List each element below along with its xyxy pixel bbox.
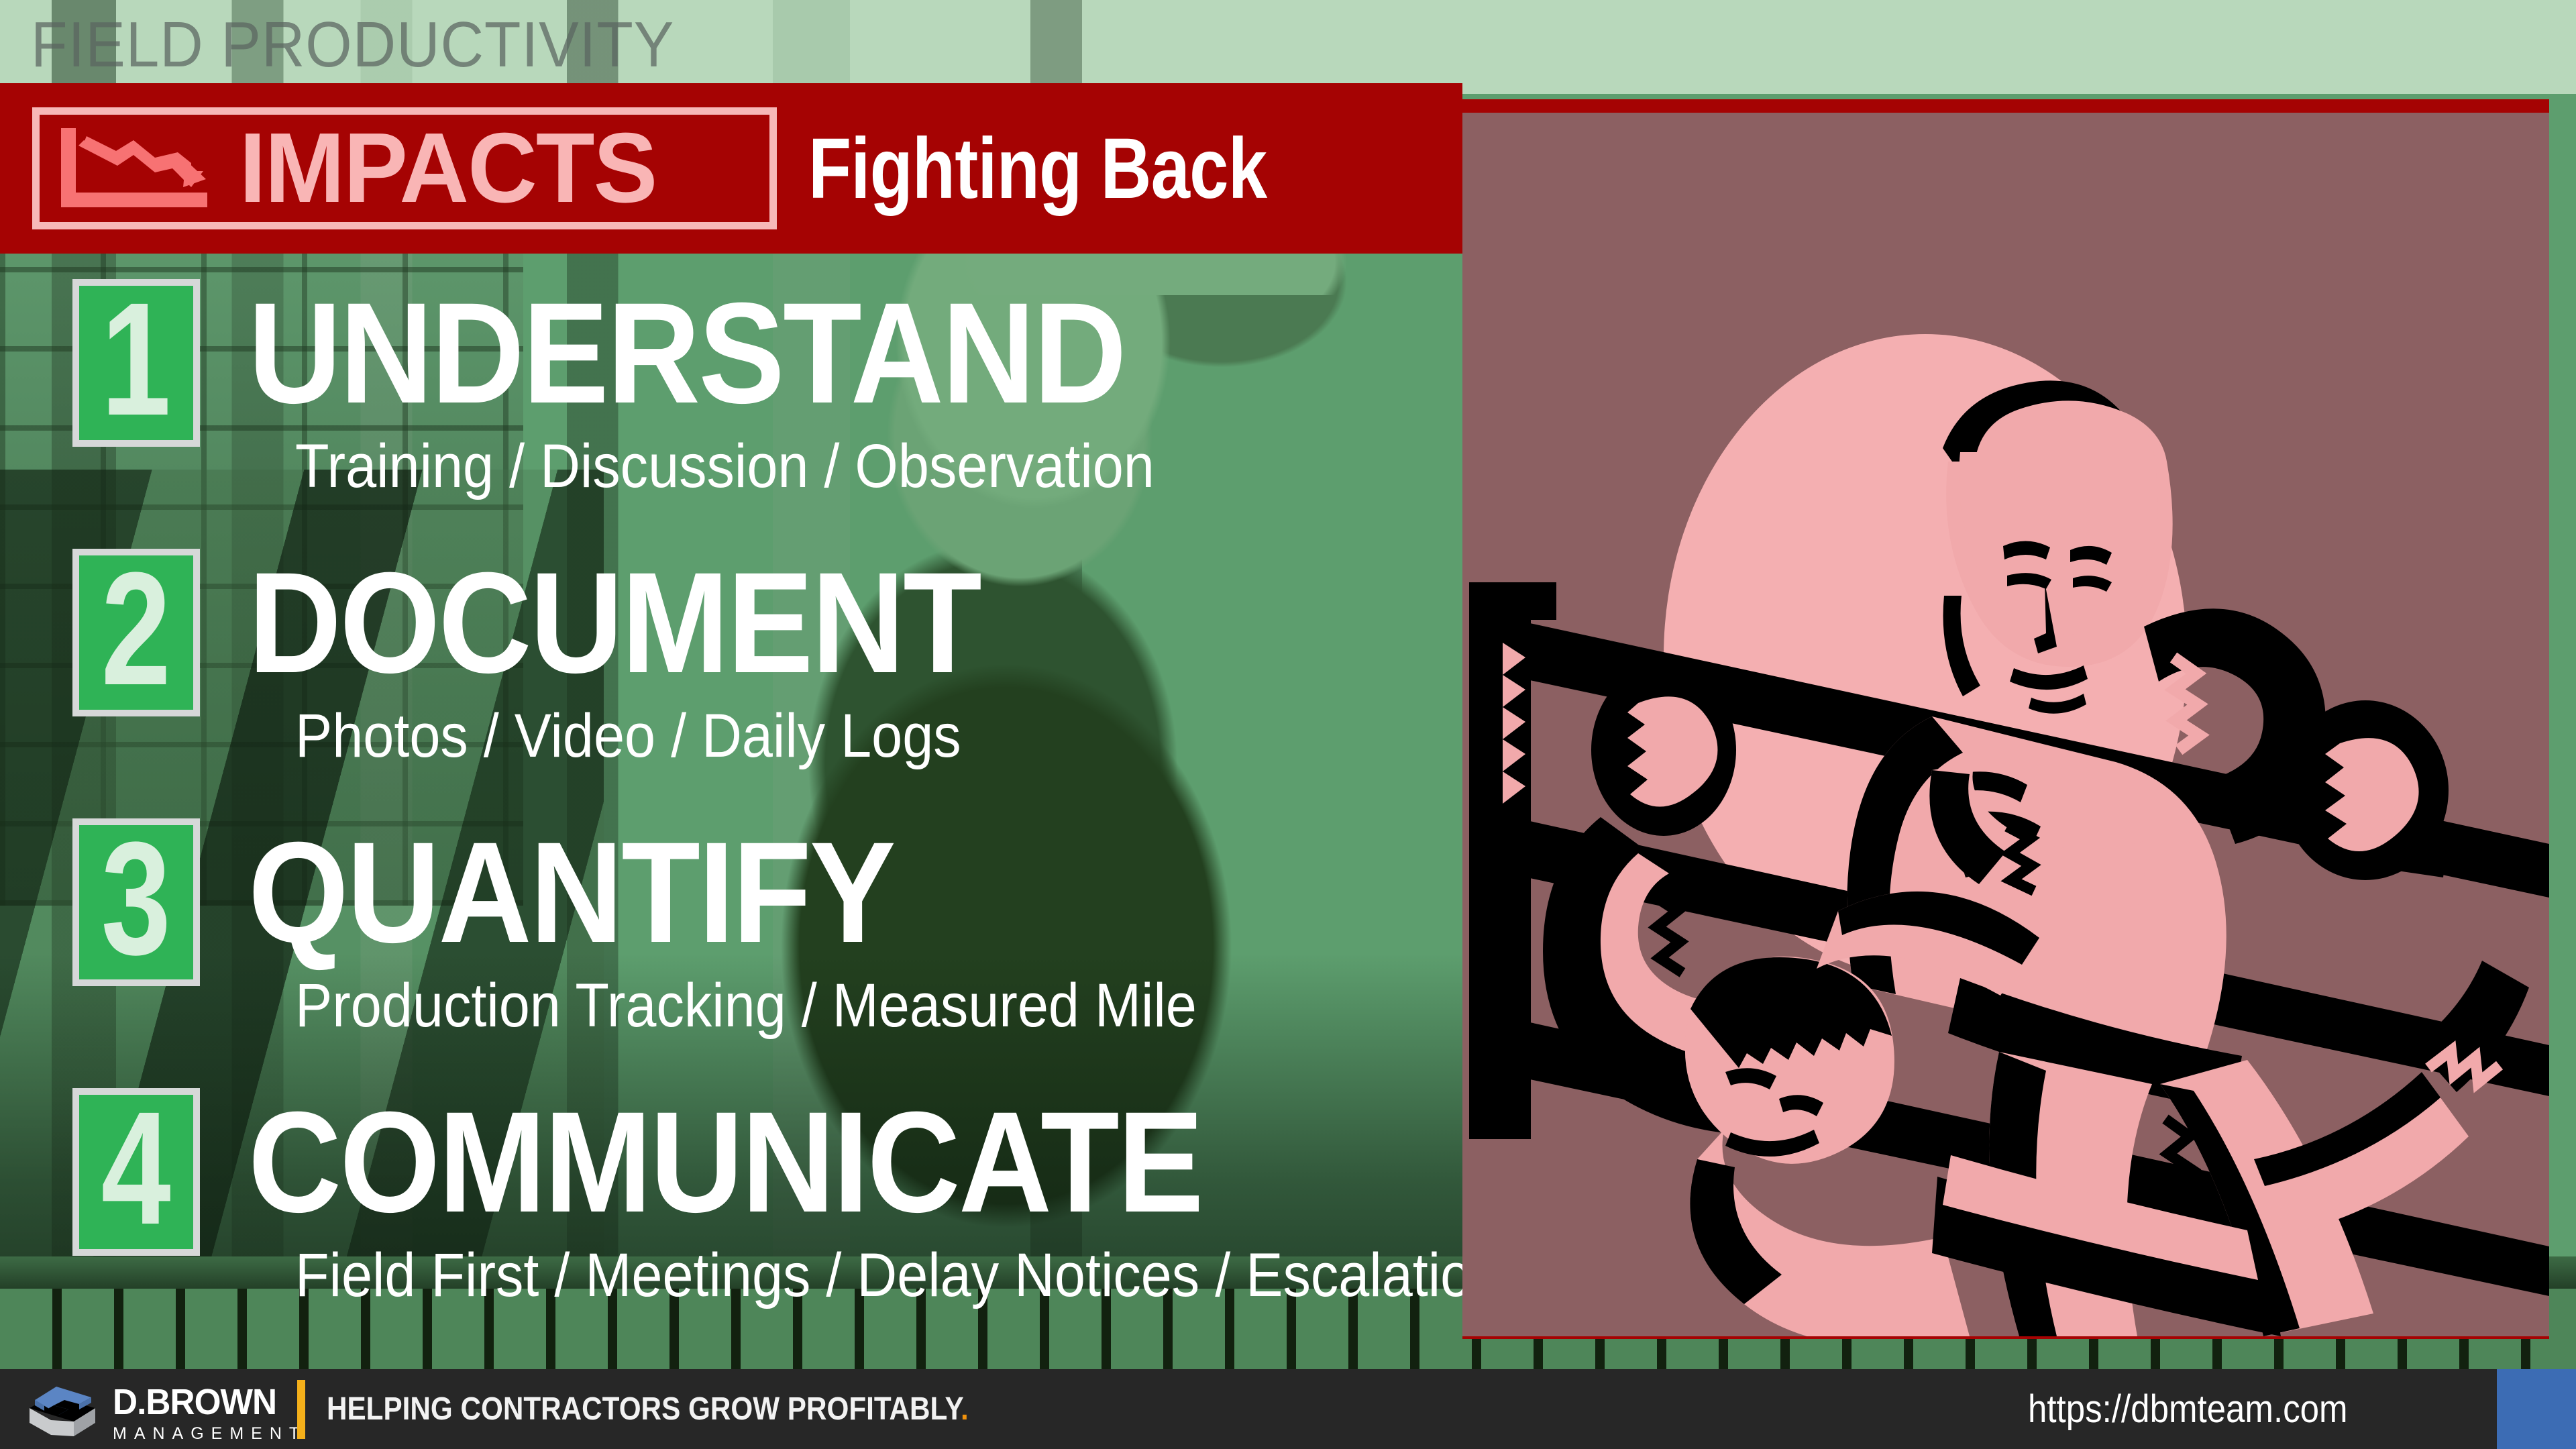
dbrown-isometric-cube-logo <box>27 1381 101 1439</box>
step-item: 3 QUANTIFY Production Tracking / Measure… <box>0 804 1462 1073</box>
step-number: 4 <box>101 1087 171 1248</box>
impacts-wordmark: IMPACTS <box>239 119 657 218</box>
page-title: FIELD PRODUCTIVITY <box>31 8 674 82</box>
step-subtitle: Training / Discussion / Observation <box>295 429 1155 503</box>
step-heading: DOCUMENT <box>248 531 980 715</box>
footer-bar: D.BROWN MANAGEMENT HELPING CONTRACTORS G… <box>0 1369 2576 1449</box>
step-number-badge: 1 <box>72 279 200 447</box>
step-heading: COMMUNICATE <box>248 1071 1202 1254</box>
footer-tagline: HELPING CONTRACTORS GROW PROFITABLY. <box>327 1391 969 1428</box>
footer-tagline-text: HELPING CONTRACTORS GROW PROFITABLY <box>327 1391 961 1427</box>
footer-divider <box>297 1380 305 1439</box>
step-heading: UNDERSTAND <box>248 262 1125 445</box>
step-item: 2 DOCUMENT Photos / Video / Daily Logs <box>0 534 1462 804</box>
footer-brand-sub: MANAGEMENT <box>113 1426 307 1442</box>
impacts-logo: IMPACTS <box>32 107 777 229</box>
step-number-badge: 2 <box>72 549 200 716</box>
header-subtitle: Fighting Back <box>808 107 1267 229</box>
step-item: 4 COMMUNICATE Field First / Meetings / D… <box>0 1073 1462 1343</box>
step-number: 3 <box>101 818 171 979</box>
step-subtitle: Field First / Meetings / Delay Notices /… <box>295 1238 1530 1312</box>
step-number-badge: 4 <box>72 1088 200 1256</box>
footer-brand: D.BROWN MANAGEMENT <box>113 1384 307 1442</box>
step-number-badge: 3 <box>72 818 200 986</box>
step-number: 1 <box>101 278 171 439</box>
boxing-illustration <box>1462 113 2549 1336</box>
boxing-figures <box>1462 113 2549 1336</box>
step-subtitle: Photos / Video / Daily Logs <box>295 699 961 773</box>
footer-brand-name: D.BROWN <box>113 1384 297 1420</box>
footer-corner-accent <box>2497 1369 2576 1449</box>
slide-canvas: FIELD PRODUCTIVITY IMPACTS Fighting Back… <box>0 0 2576 1449</box>
step-item: 1 UNDERSTAND Training / Discussion / Obs… <box>0 264 1462 534</box>
steps-list: 1 UNDERSTAND Training / Discussion / Obs… <box>0 264 1462 1343</box>
declining-chart-icon <box>54 125 222 211</box>
footer-tagline-period: . <box>961 1391 969 1427</box>
step-heading: QUANTIFY <box>248 801 894 985</box>
footer-url[interactable]: https://dbmteam.com <box>2028 1387 2348 1432</box>
step-subtitle: Production Tracking / Measured Mile <box>295 969 1197 1042</box>
step-number: 2 <box>101 548 171 709</box>
